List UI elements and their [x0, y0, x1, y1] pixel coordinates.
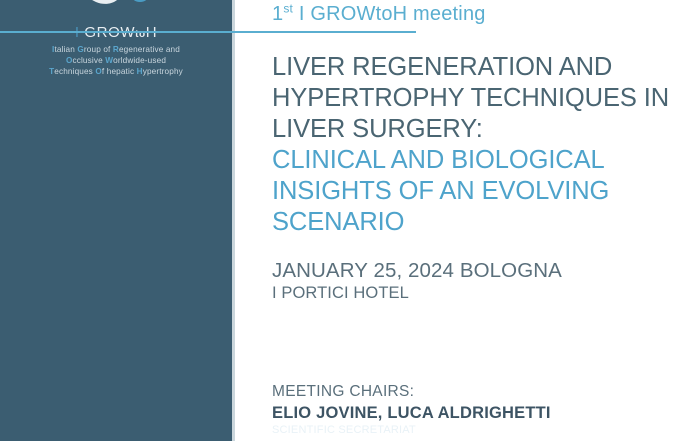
logo-expansion-text-run: egenerative and: [119, 45, 180, 54]
meeting-chairs-names: ELIO JOVINE, LUCA ALDRIGHETTI: [272, 402, 672, 424]
accent-rule-left-segment: [0, 31, 230, 33]
date-venue-block: JANUARY 25, 2024 BOLOGNA I PORTICI HOTEL: [272, 258, 672, 304]
logo-expansion-text-run: ypertrophy: [143, 67, 183, 76]
logo-expansion-text-run: cclusive: [72, 56, 105, 65]
logo-expansion-text-run: orldwide-used: [113, 56, 166, 65]
meeting-kicker: 1st I GROWtoH meeting: [272, 1, 486, 27]
kicker-rest: I GROWtoH meeting: [293, 3, 486, 25]
scientific-secretariat-label: SCIENTIFIC SECRETARIAT: [272, 424, 672, 437]
logo-expansion-text-run: echniques: [54, 67, 95, 76]
logo-expansion-text-run: talian: [54, 45, 77, 54]
logo-expansion-text-run: f hepatic: [102, 67, 137, 76]
logo-expansion-text: Italian Group of Regenerative andOcclusi…: [8, 44, 224, 78]
kicker-ordinal: 1: [272, 3, 283, 25]
event-venue: I PORTICI HOTEL: [272, 283, 672, 304]
page-title: LIVER REGENERATION AND HYPERTROPHY TECHN…: [272, 52, 672, 145]
accent-rule: [230, 31, 416, 33]
poster-root: I GROWtoH Italian Group of Regenerative …: [0, 0, 700, 441]
meeting-chairs-block: MEETING CHAIRS: ELIO JOVINE, LUCA ALDRIG…: [272, 381, 672, 437]
kicker-ordinal-suffix: st: [283, 1, 293, 15]
logo-expansion-highlight: W: [105, 56, 113, 65]
logo-expansion-text-run: roup of: [84, 45, 113, 54]
logo-expansion-line-1: Italian Group of Regenerative and: [8, 44, 224, 55]
logo-expansion-line-2: Occlusive Worldwide-used: [8, 55, 224, 66]
logo-expansion-line-3: Techniques Of hepatic Hypertrophy: [8, 66, 224, 77]
meeting-chairs-label: MEETING CHAIRS:: [272, 381, 672, 402]
panel-edge-divider: [232, 0, 235, 441]
left-brand-panel: I GROWtoH Italian Group of Regenerative …: [0, 0, 232, 441]
poster-content: 1st I GROWtoH meeting LIVER REGENERATION…: [272, 0, 692, 441]
page-subtitle: CLINICAL AND BIOLOGICAL INSIGHTS OF AN E…: [272, 145, 672, 238]
event-date: JANUARY 25, 2024 BOLOGNA: [272, 258, 672, 283]
